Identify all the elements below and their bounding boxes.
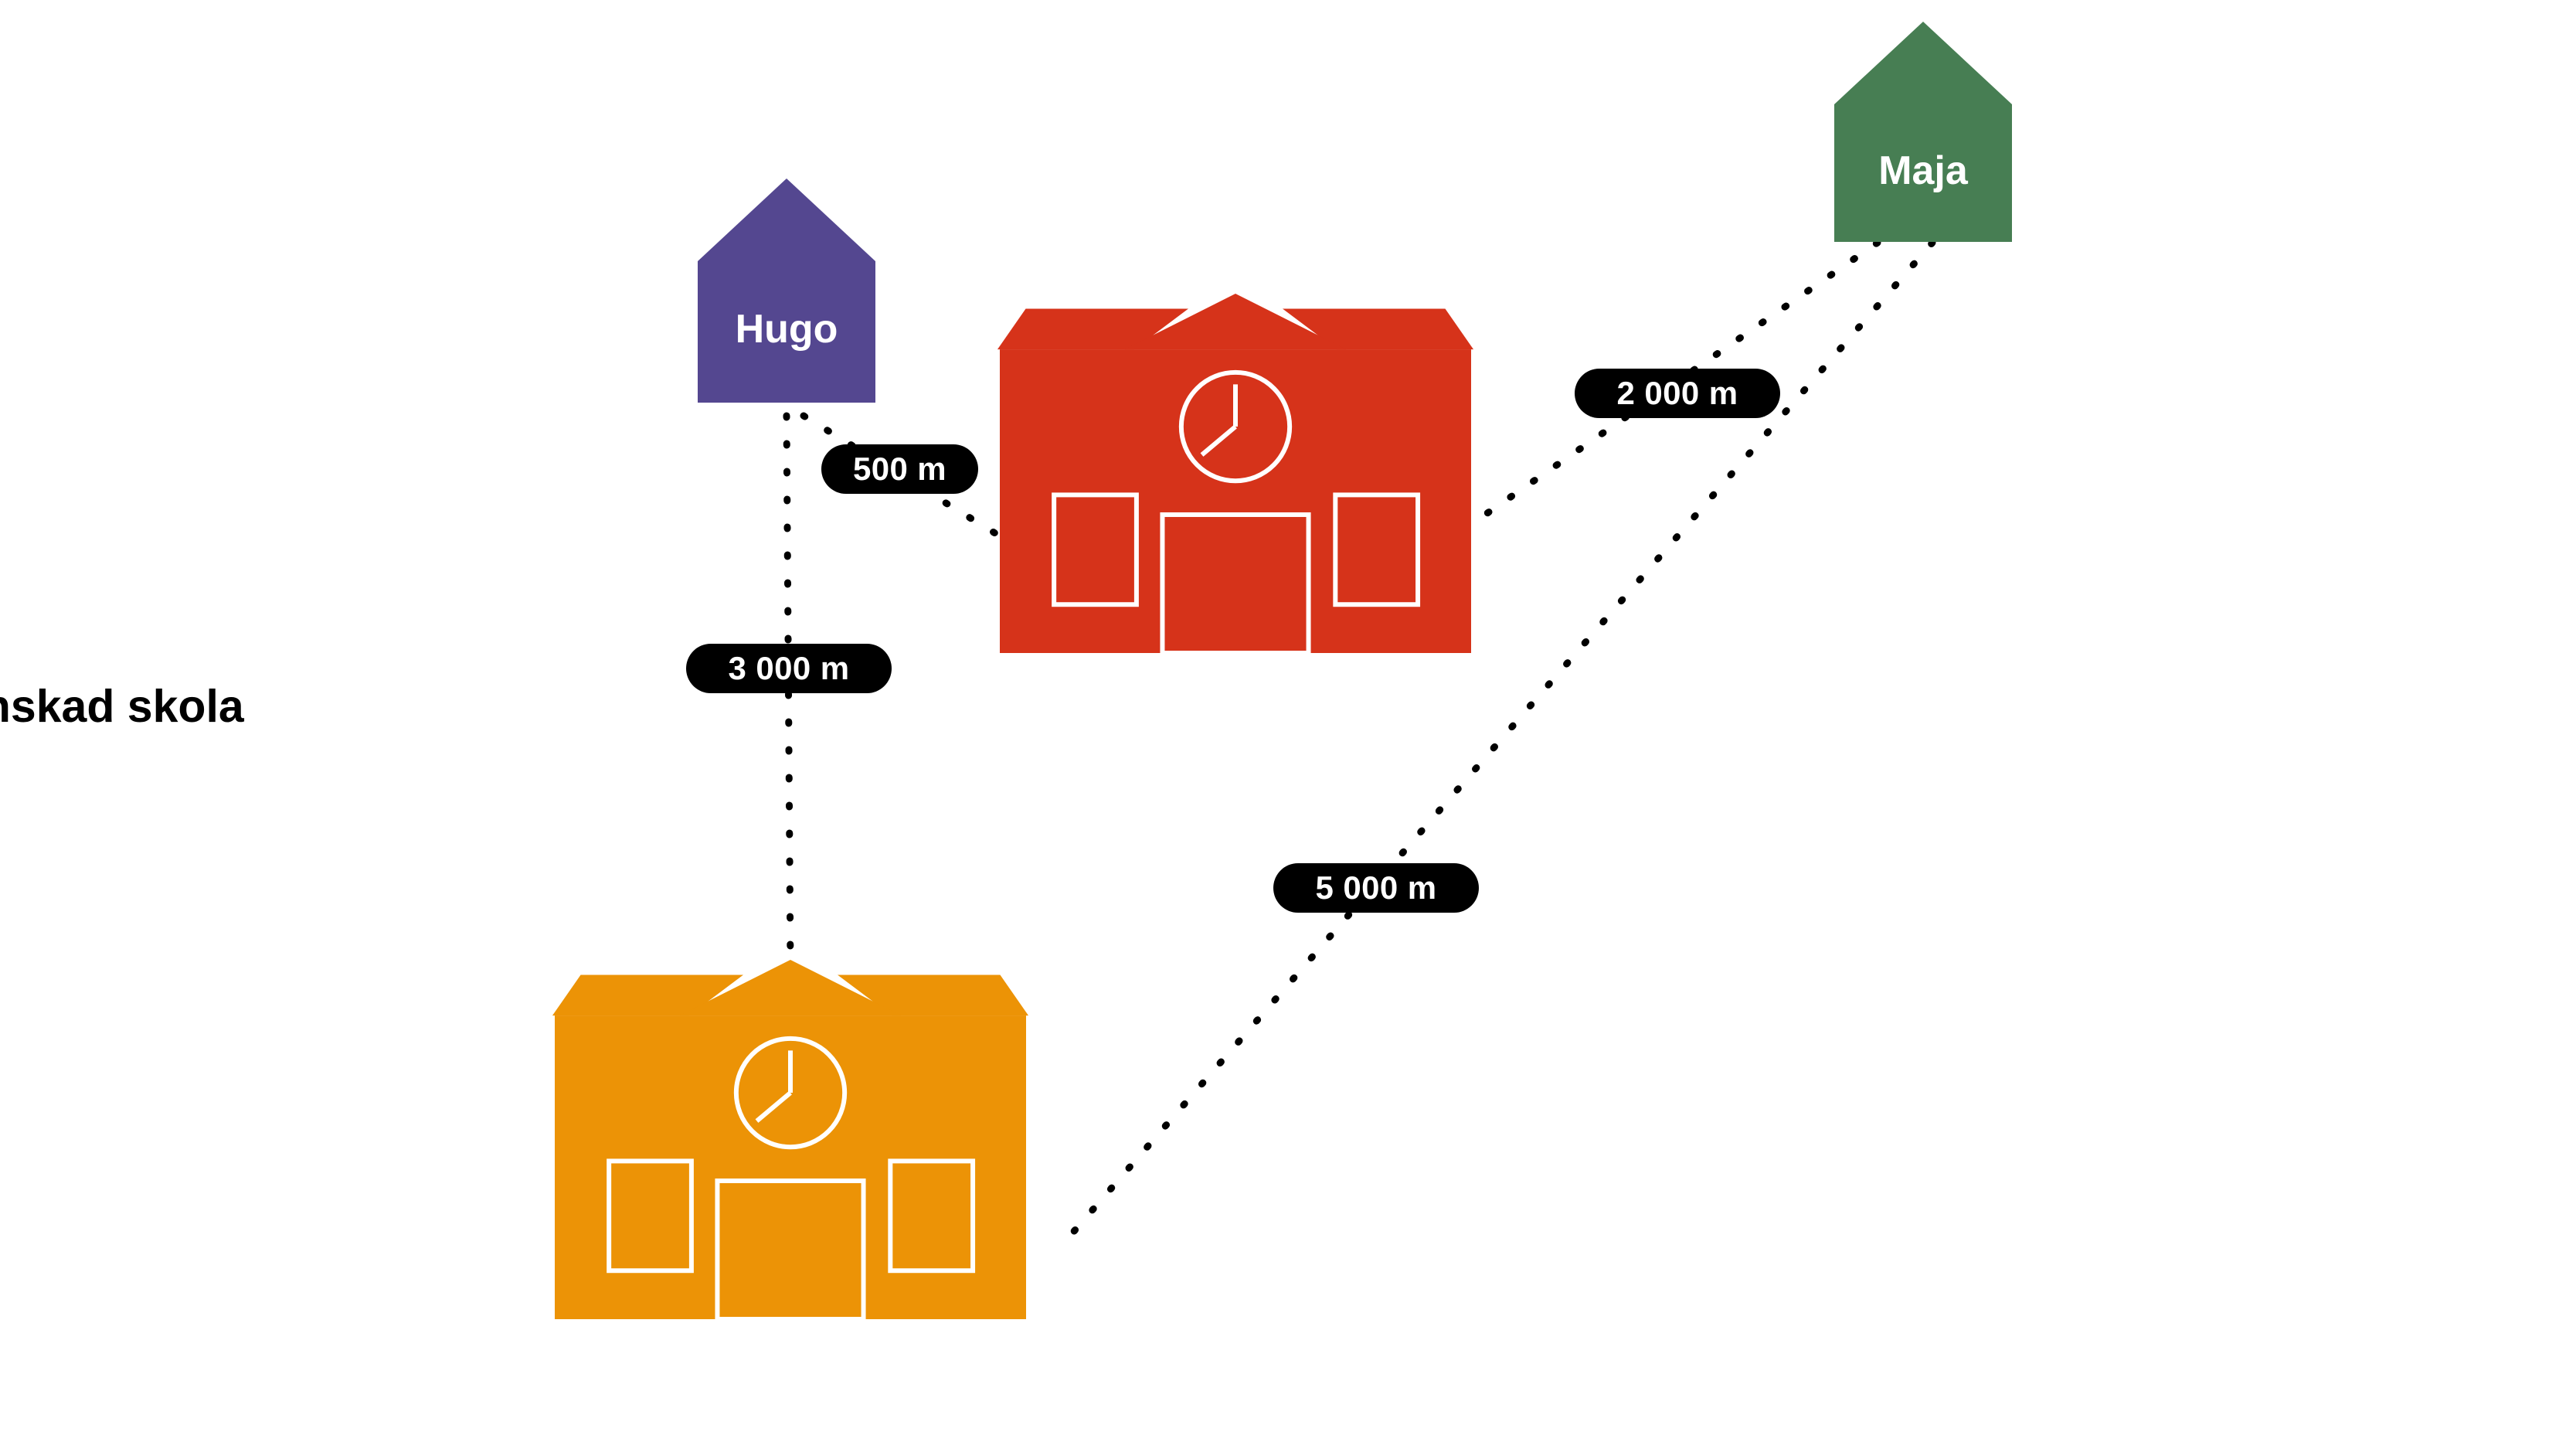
distance-badge-2000m: 2 000 m <box>1575 369 1780 418</box>
home-maja[interactable] <box>1834 22 2012 242</box>
home-maja-shape <box>1834 22 2012 242</box>
distance-badge-500m: 500 m <box>821 444 978 494</box>
distance-badge-3000m: 3 000 m <box>686 644 892 693</box>
diagram-canvas: Hugo Maja Önskad skola Alternativ skola … <box>0 0 2576 1449</box>
distance-badge-5000m: 5 000 m <box>1273 863 1479 913</box>
home-hugo[interactable] <box>698 179 875 403</box>
school-onskad-skola[interactable] <box>997 294 1473 653</box>
school-caption-onskad-skola: Önskad skola <box>0 680 2523 733</box>
school-alternativ-skola[interactable] <box>552 960 1028 1319</box>
home-hugo-shape <box>698 179 875 403</box>
school-caption-alternativ-skola: Alternativ skola <box>0 1345 2078 1397</box>
